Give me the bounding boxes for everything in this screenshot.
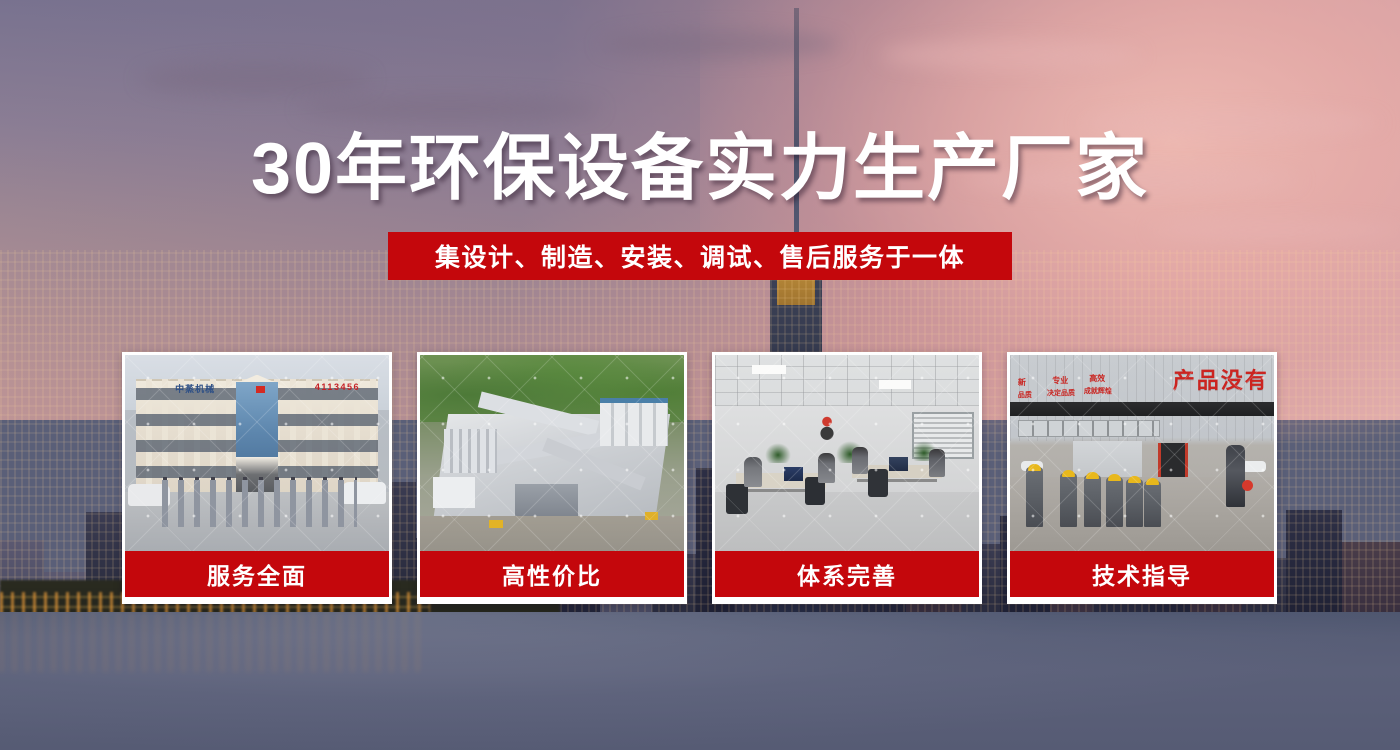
feature-card[interactable]: 中蒸机械 4113456 服务全面 — [122, 352, 392, 604]
slogan-text: 品质 — [1018, 390, 1032, 400]
subtitle-text: 集设计、制造、安装、调试、售后服务于一体 — [435, 238, 965, 274]
supervisor-figure — [1226, 445, 1245, 507]
building-signage-text: 中蒸机械 — [175, 382, 215, 395]
feature-card-list: 中蒸机械 4113456 服务全面 — [0, 352, 1400, 607]
cloud-shape — [600, 30, 840, 58]
feature-card[interactable]: 高性价比 — [417, 352, 687, 604]
cloud-shape — [1150, 220, 1400, 240]
card-photo: 产品没有 新 品质 专业 决定品质 高效 成就辉煌 — [1010, 355, 1274, 551]
worker-row — [1026, 449, 1158, 527]
card-label: 体系完善 — [715, 551, 979, 597]
slogan-text: 专业 — [1052, 375, 1068, 386]
factory-signage-text: 产品没有 — [1173, 363, 1269, 395]
subtitle-banner: 集设计、制造、安装、调试、售后服务于一体 — [388, 232, 1012, 280]
cloud-shape — [140, 62, 370, 96]
promo-banner: 30年环保设备实力生产厂家 集设计、制造、安装、调试、售后服务于一体 中 — [0, 0, 1400, 750]
feature-card[interactable]: 体系完善 — [712, 352, 982, 604]
card-label: 服务全面 — [125, 551, 389, 597]
slogan-text: 决定品质 — [1047, 388, 1075, 398]
feature-card[interactable]: 产品没有 新 品质 专业 决定品质 高效 成就辉煌 — [1007, 352, 1277, 604]
cloud-shape — [300, 96, 600, 122]
slogan-text: 高效 — [1089, 373, 1105, 384]
card-label: 技术指导 — [1010, 551, 1274, 597]
page-title: 30年环保设备实力生产厂家 — [0, 133, 1400, 205]
card-label: 高性价比 — [420, 551, 684, 597]
card-photo — [420, 355, 684, 551]
card-photo — [715, 355, 979, 551]
building-phone-text: 4113456 — [315, 382, 360, 392]
slogan-text: 成就辉煌 — [1084, 386, 1112, 396]
wall-decal — [810, 416, 844, 444]
slogan-text: 新 — [1018, 377, 1026, 388]
cloud-shape — [880, 40, 1140, 70]
water-reflections — [0, 612, 420, 672]
card-photo: 中蒸机械 4113456 — [125, 355, 389, 551]
flag-icon — [256, 386, 265, 393]
